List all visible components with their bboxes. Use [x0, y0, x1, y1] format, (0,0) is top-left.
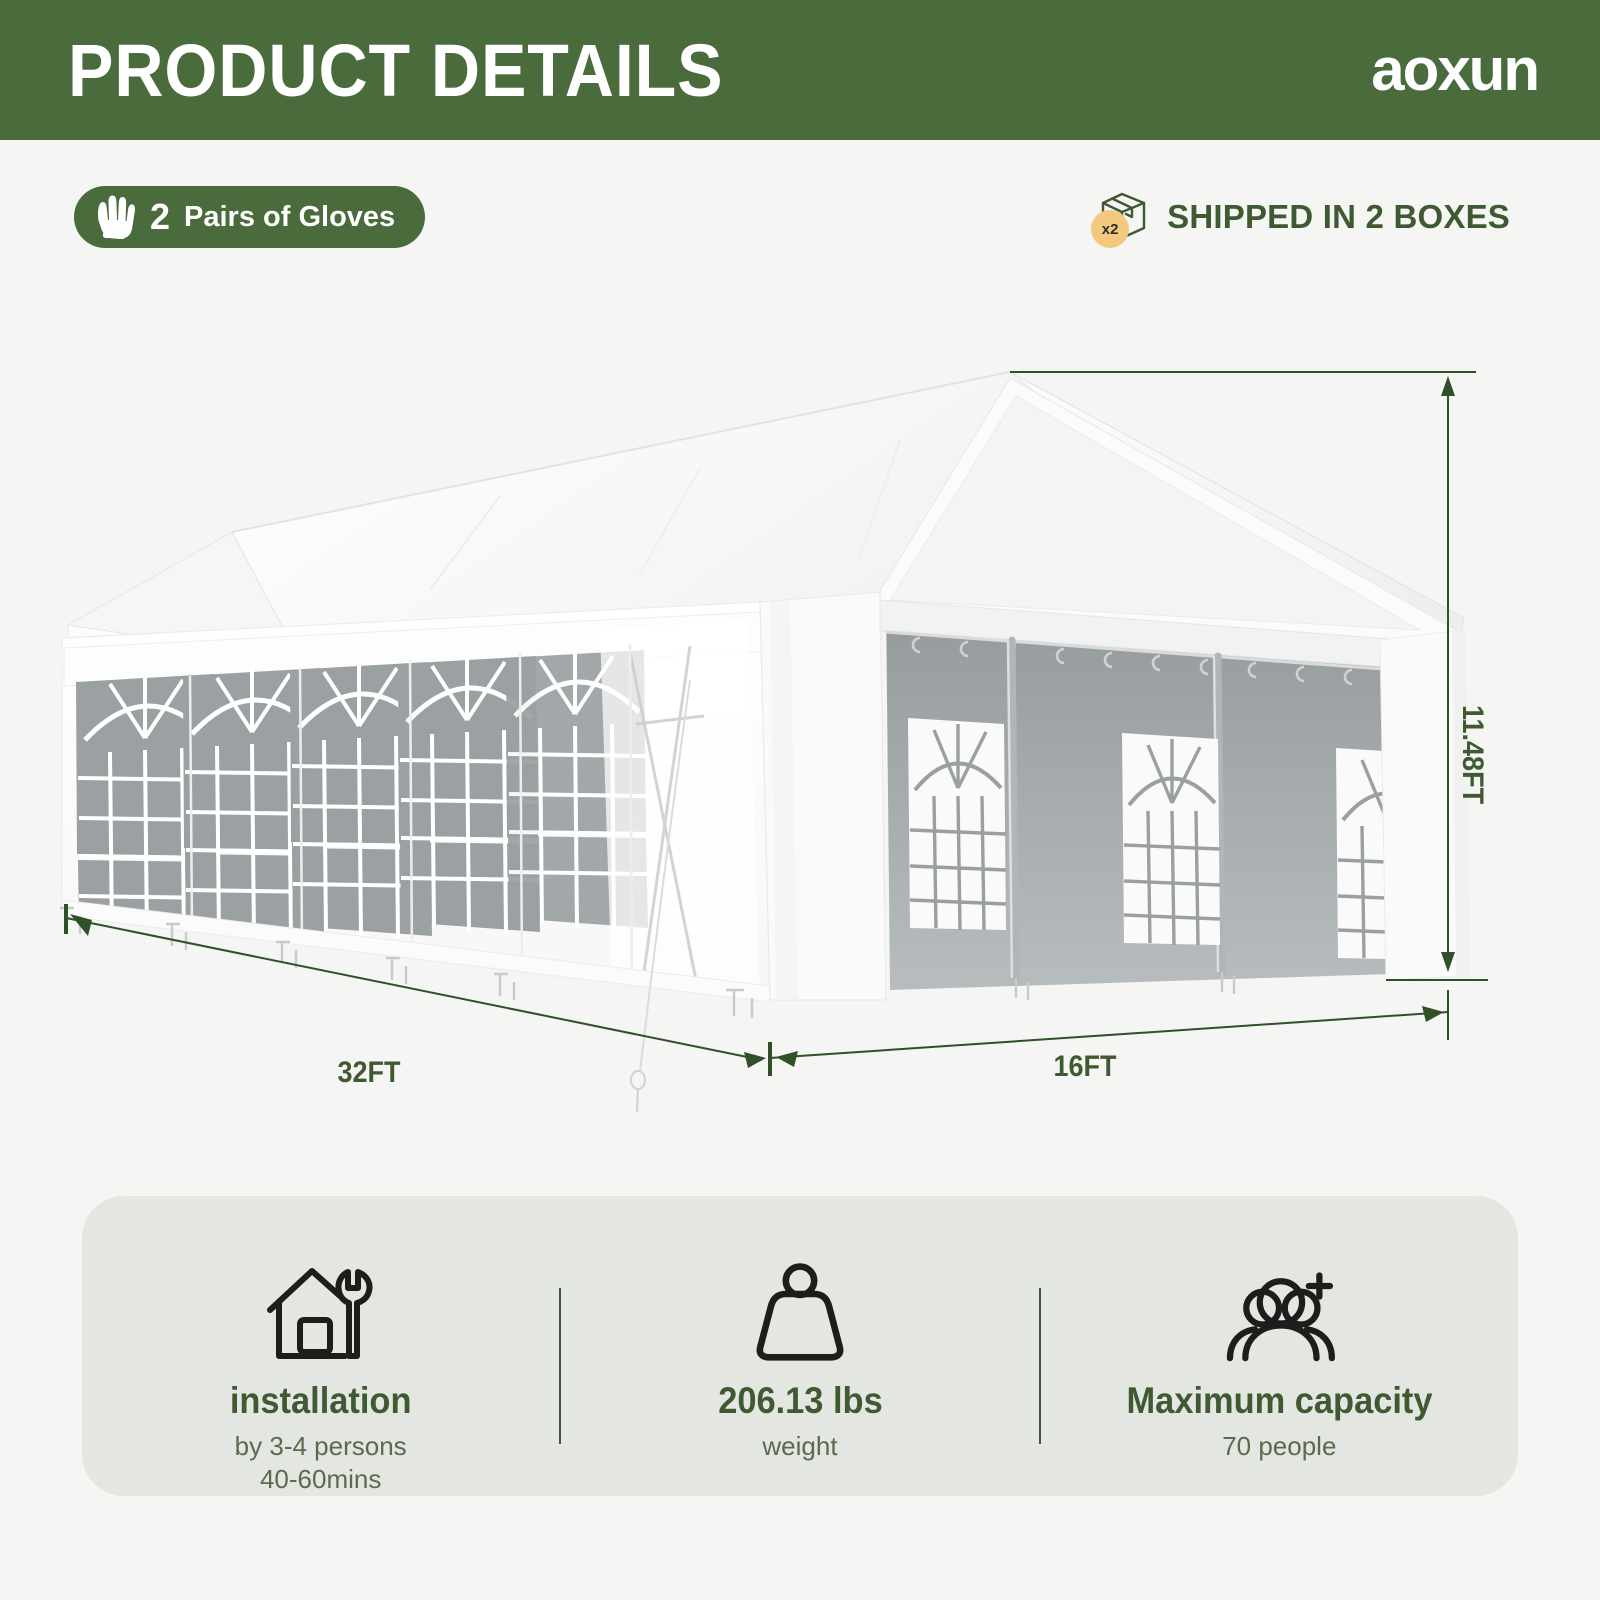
- page-title: PRODUCT DETAILS: [68, 28, 724, 113]
- gloves-badge: 2 Pairs of Gloves: [74, 186, 425, 248]
- product-illustration: [0, 300, 1600, 1150]
- box-icon: x2: [1091, 186, 1153, 248]
- feature-subtitle: by 3-4 persons 40-60mins: [235, 1430, 407, 1495]
- box-multiplier-badge: x2: [1091, 210, 1129, 248]
- shipping-label: SHIPPED IN 2 BOXES: [1167, 198, 1510, 236]
- people-plus-icon: [1218, 1250, 1340, 1362]
- feature-title: 206.13 lbs: [718, 1380, 883, 1422]
- feature-weight: 206.13 lbs weight: [561, 1196, 1038, 1496]
- dimension-label-width: 16FT: [1054, 1050, 1117, 1084]
- dimension-label-length: 32FT: [338, 1056, 401, 1090]
- shipping-badge: x2 SHIPPED IN 2 BOXES: [1091, 186, 1510, 248]
- brand-logo: aoxun: [1371, 40, 1538, 100]
- gloves-icon: [92, 194, 144, 240]
- gloves-count: 2: [150, 196, 170, 238]
- feature-installation: installation by 3-4 persons 40-60mins: [82, 1196, 559, 1496]
- weight-icon: [748, 1250, 852, 1362]
- feature-subtitle: 70 people: [1222, 1430, 1336, 1463]
- features-panel: installation by 3-4 persons 40-60mins 20…: [82, 1196, 1518, 1496]
- house-wrench-icon: [262, 1250, 380, 1362]
- product-details-page: PRODUCT DETAILS aoxun 2 Pairs of Gloves: [0, 0, 1600, 1600]
- feature-title: Maximum capacity: [1126, 1380, 1432, 1422]
- feature-title: installation: [230, 1380, 412, 1422]
- page-header: PRODUCT DETAILS aoxun: [0, 0, 1600, 140]
- dimension-label-height: 11.48FT: [1455, 705, 1489, 804]
- feature-capacity: Maximum capacity 70 people: [1041, 1196, 1518, 1496]
- gloves-label: Pairs of Gloves: [184, 201, 395, 234]
- feature-subtitle: weight: [762, 1430, 837, 1463]
